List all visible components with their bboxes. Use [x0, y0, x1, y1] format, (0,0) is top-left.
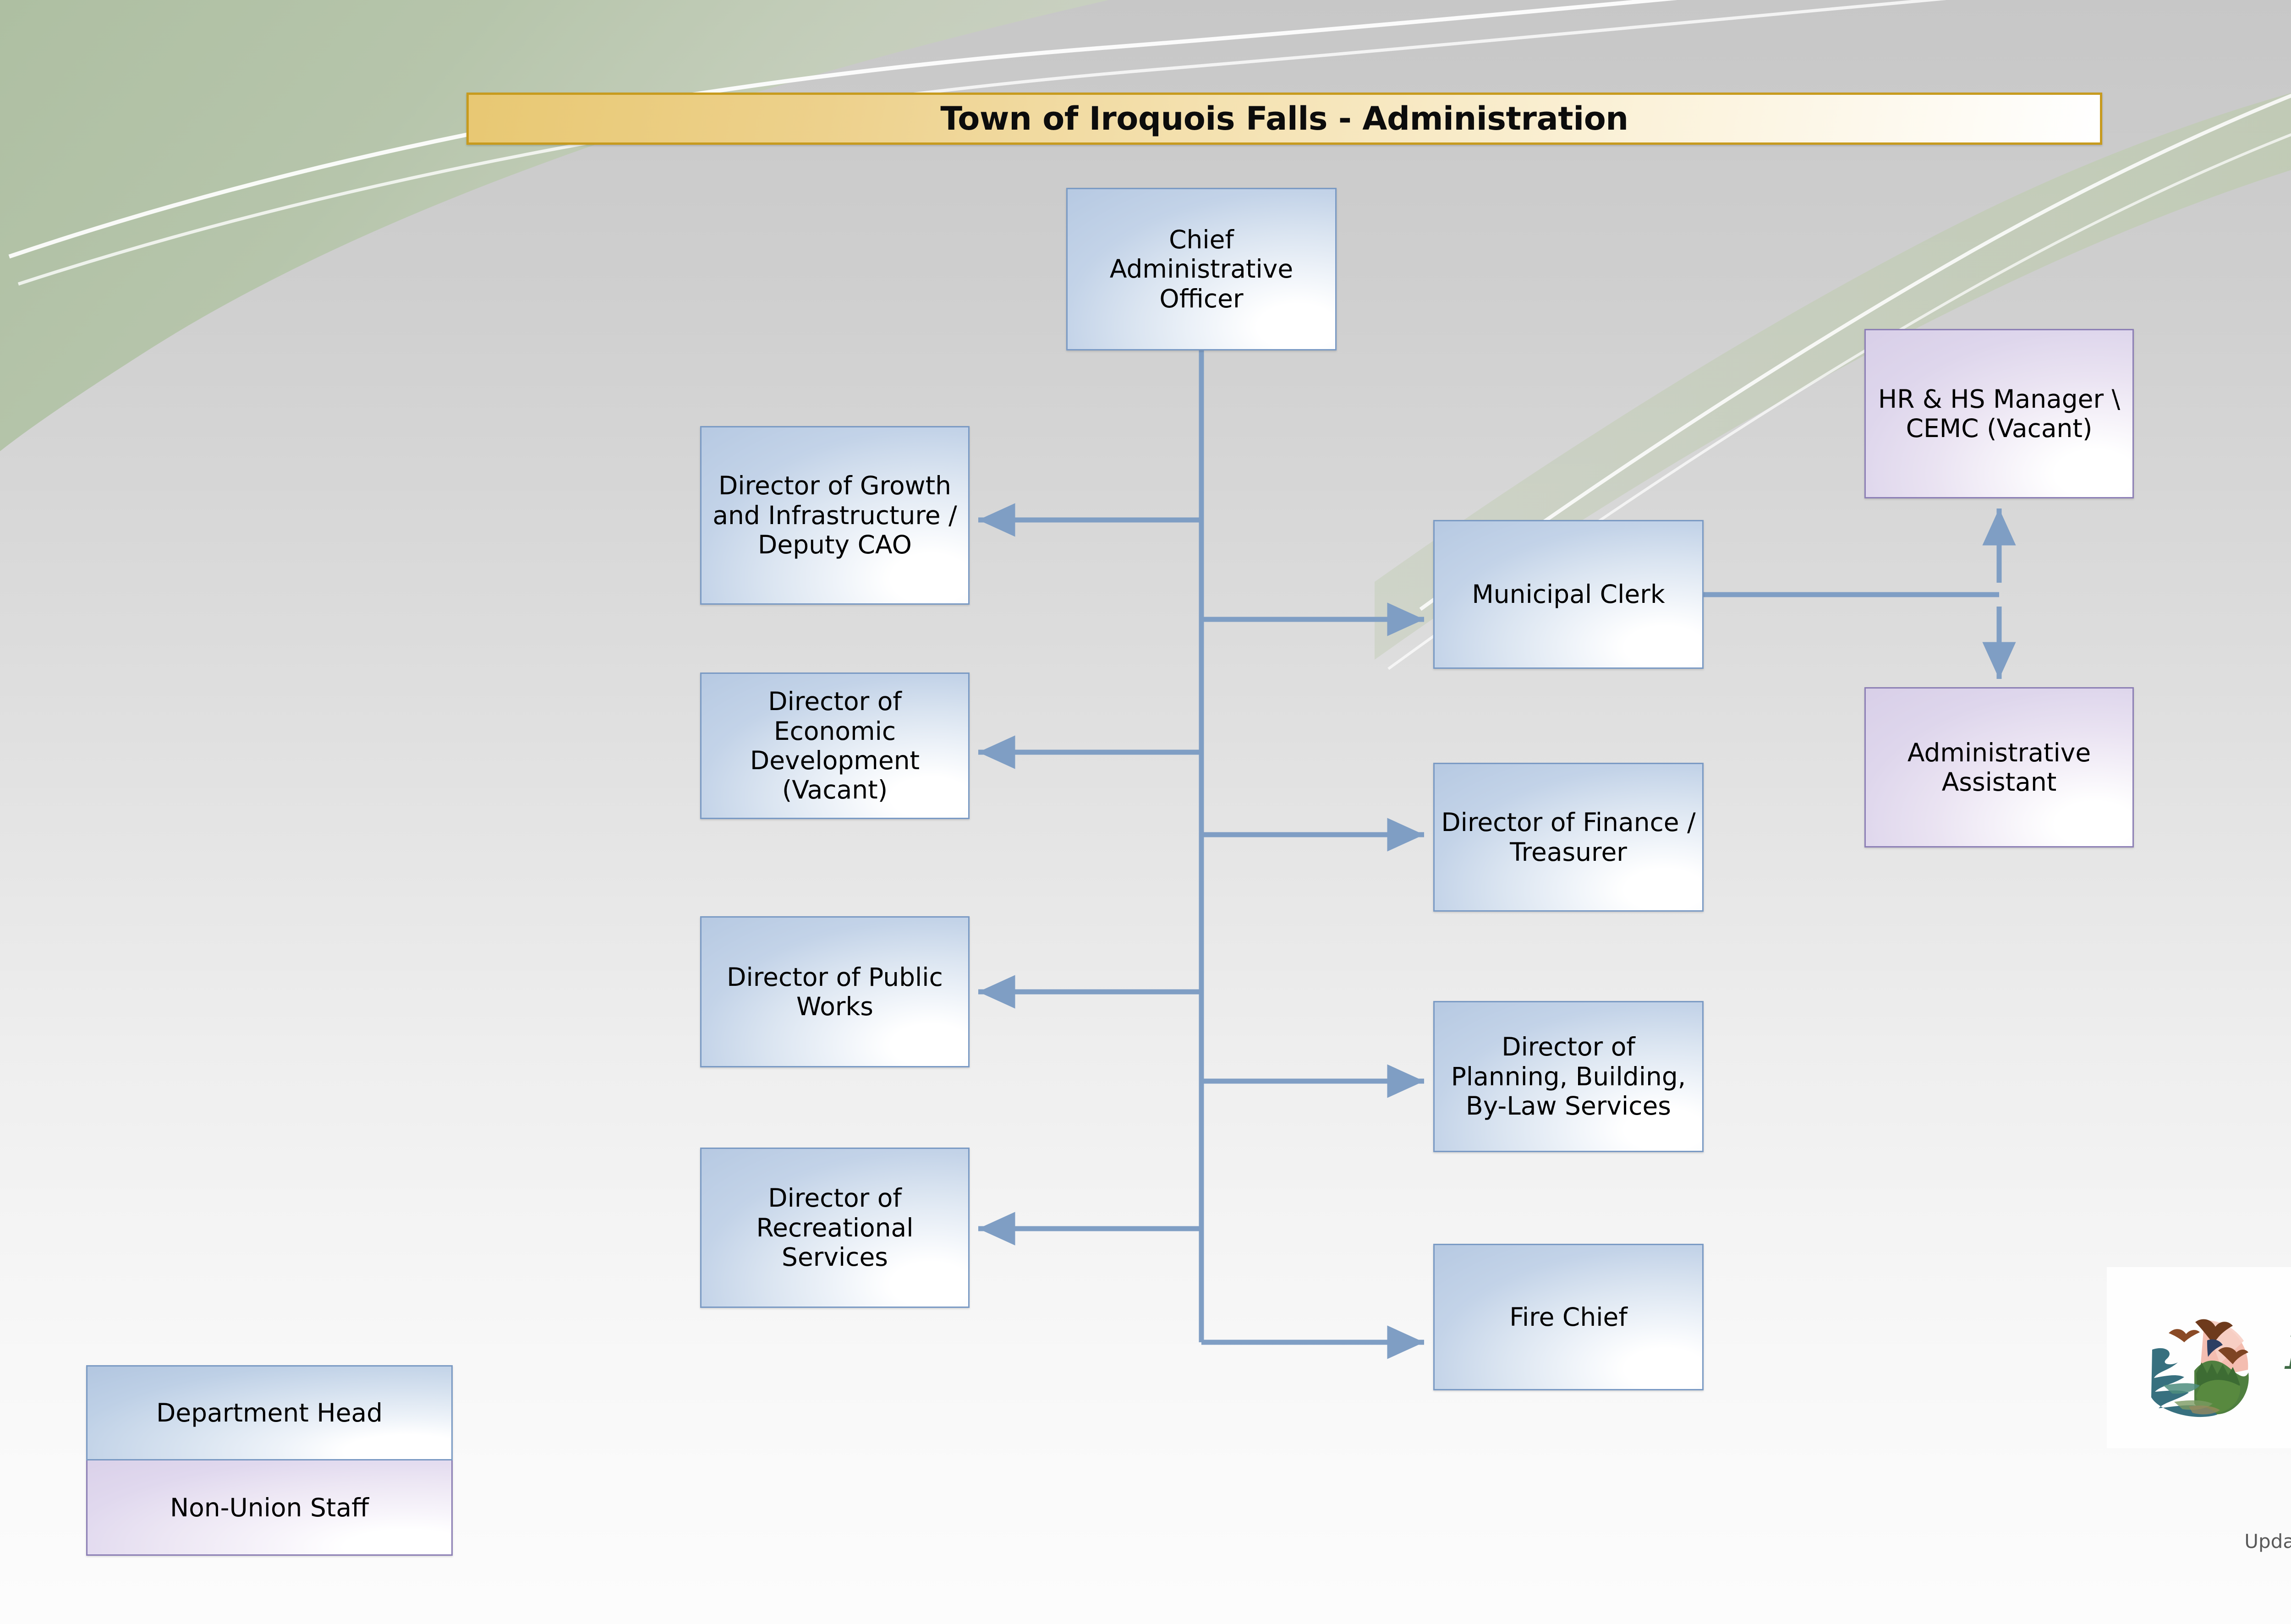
- org-node-director-of-economic-development[interactable]: Director of Economic Development (Vacant…: [700, 673, 970, 819]
- org-node-director-of-planning-building-bylaw[interactable]: Director of Planning, Building, By-Law S…: [1433, 1001, 1704, 1152]
- legend-item-non-union-staff: Non-Union Staff: [86, 1460, 453, 1556]
- node-label: Director of Planning, Building, By-Law S…: [1441, 1032, 1696, 1121]
- legend-item-department-head: Department Head: [86, 1365, 453, 1460]
- node-label: Director of Finance / Treasurer: [1441, 808, 1696, 867]
- page-title-banner: Town of Iroquois Falls - Administration: [466, 93, 2102, 145]
- page-title: Town of Iroquois Falls - Administration: [940, 100, 1628, 137]
- node-label: Director of Recreational Services: [708, 1183, 962, 1272]
- green-swoosh-left: [0, 0, 1109, 451]
- logo-wordmark: Iroquois: [2284, 1324, 2291, 1380]
- org-node-municipal-clerk[interactable]: Municipal Clerk: [1433, 520, 1704, 669]
- iroquois-falls-landscape-logo: Iroquois FALLS: [2107, 1267, 2291, 1448]
- node-label: Fire Chief: [1509, 1302, 1627, 1332]
- org-node-chief-administrative-officer[interactable]: Chief Administrative Officer: [1066, 188, 1337, 350]
- org-node-director-of-recreational-services[interactable]: Director of Recreational Services: [700, 1148, 970, 1308]
- node-label: Chief Administrative Officer: [1074, 225, 1329, 313]
- org-node-director-of-growth-and-infrastructure[interactable]: Director of Growth and Infrastructure / …: [700, 426, 970, 605]
- org-node-hr-hs-manager-cemc[interactable]: HR & HS Manager \ CEMC (Vacant): [1864, 329, 2134, 498]
- legend-label: Department Head: [156, 1398, 383, 1427]
- org-node-director-of-public-works[interactable]: Director of Public Works: [700, 916, 970, 1067]
- logo-card: Iroquois FALLS: [2107, 1267, 2291, 1448]
- updated-timestamp: Updated: January 2026: [2107, 1530, 2291, 1553]
- node-label: Director of Economic Development (Vacant…: [708, 687, 962, 804]
- org-node-administrative-assistant[interactable]: Administrative Assistant: [1864, 687, 2134, 848]
- node-label: Director of Public Works: [708, 962, 962, 1022]
- org-node-director-of-finance-treasurer[interactable]: Director of Finance / Treasurer: [1433, 763, 1704, 912]
- node-label: Director of Growth and Infrastructure / …: [708, 471, 962, 559]
- legend-label: Non-Union Staff: [170, 1493, 369, 1522]
- node-label: HR & HS Manager \ CEMC (Vacant): [1872, 384, 2126, 443]
- org-node-fire-chief[interactable]: Fire Chief: [1433, 1244, 1704, 1390]
- legend: Department Head Non-Union Staff: [86, 1365, 453, 1556]
- node-label: Administrative Assistant: [1872, 738, 2126, 797]
- node-label: Municipal Clerk: [1472, 580, 1665, 609]
